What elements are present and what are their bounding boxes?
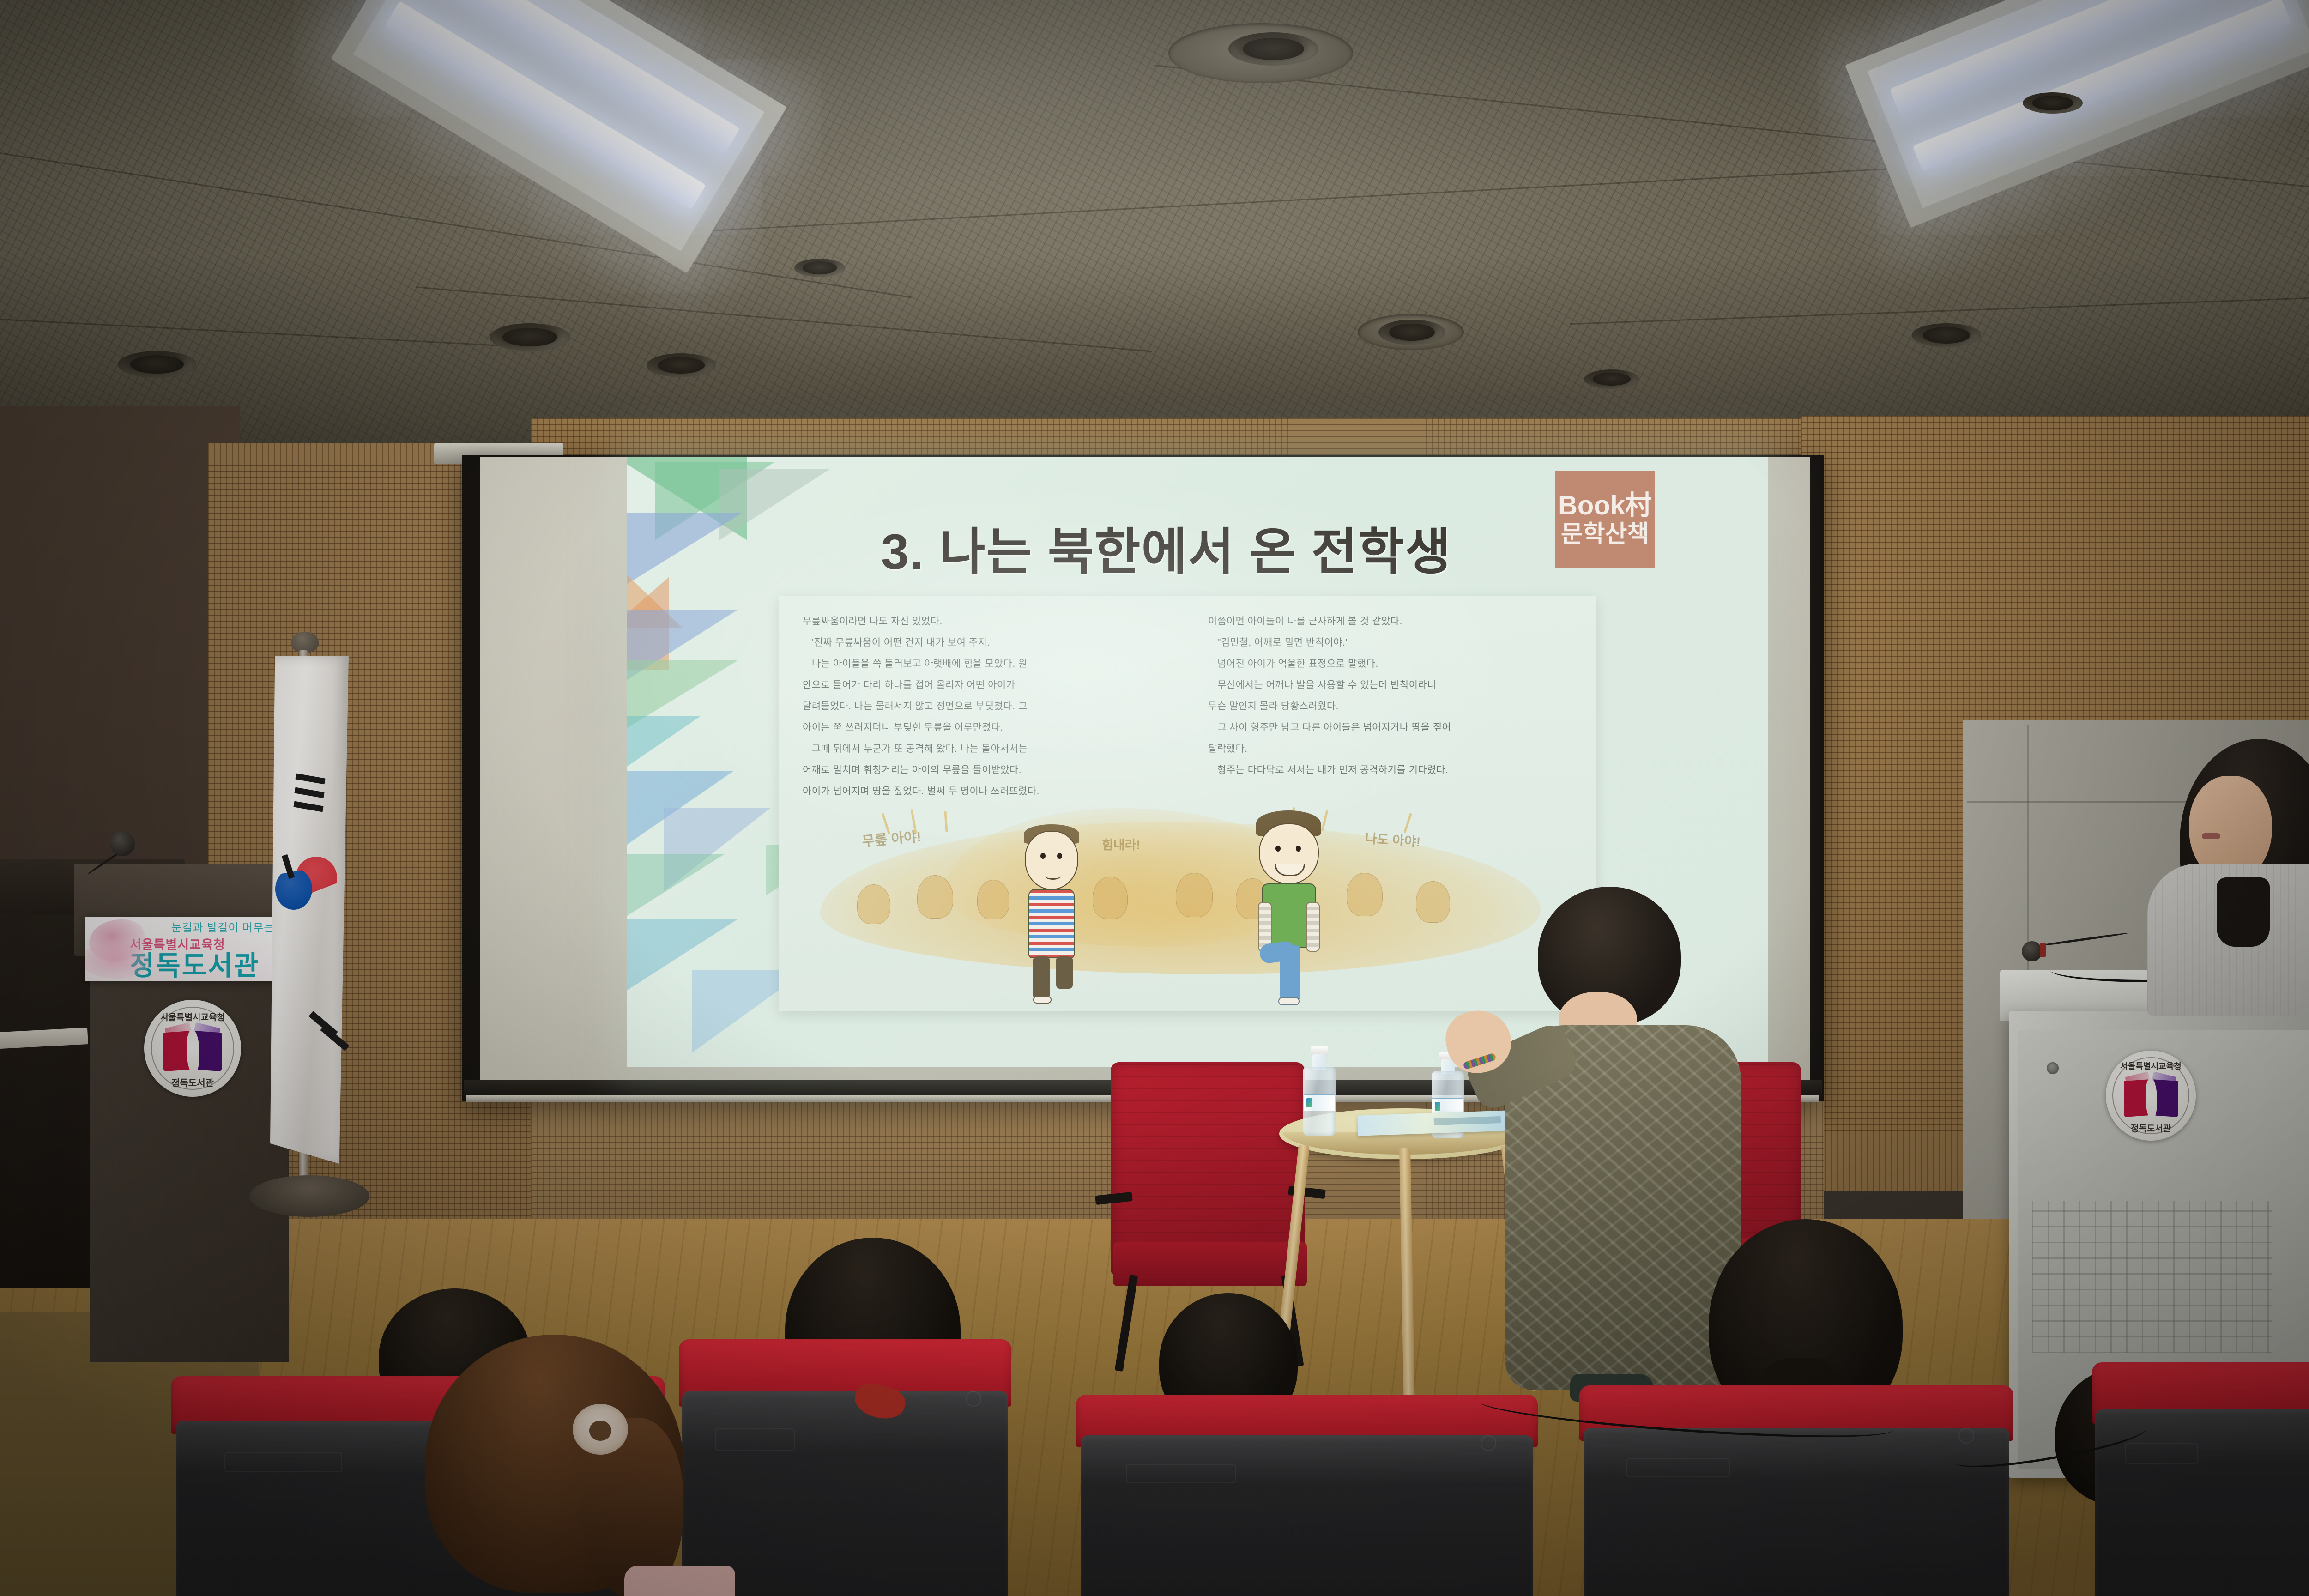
badge-line-1: Book村 — [1558, 490, 1652, 521]
ceiling-downlight — [647, 353, 716, 377]
ceiling-downlight — [118, 351, 196, 378]
book-line: 나는 아이들을 쓱 둘러보고 아랫배에 힘을 모았다. 원 — [803, 654, 1181, 674]
book-line: 무슨 말인지 몰라 당황스러웠다. — [1208, 696, 1578, 716]
book-line: "김민철, 어깨로 밀면 반칙이야." — [1208, 633, 1578, 653]
sign-library-name: 정독도서관 — [130, 953, 289, 979]
emblem-top-text: 서울특별시교육청 — [144, 1010, 241, 1023]
illustration-boy-right — [1250, 810, 1335, 1000]
korean-flag — [270, 656, 349, 1164]
book-line: 어깨로 밀치며 휘청거리는 아이의 무릎을 들이받았다. — [803, 760, 1181, 780]
emblem-bottom-text: 정독도서관 — [144, 1076, 241, 1089]
book-line: 그 사이 형주만 남고 다른 아이들은 넘어지거나 땅을 짚어 — [1208, 718, 1578, 738]
ceiling-downlight — [1912, 323, 1981, 347]
book-line: 이쯤이면 아이들이 나를 근사하게 볼 것 같았다. — [1208, 611, 1578, 631]
illustration-speech-text: 나도 아야! — [1365, 828, 1421, 851]
podium-left-sign: 눈길과 발길이 머무는 곳 서울특별시교육청 정독도서관 — [85, 917, 293, 981]
presenter-at-lectern — [2110, 725, 2309, 1011]
ceiling-downlight — [794, 259, 845, 277]
audience-seat[interactable] — [2092, 1362, 2309, 1596]
audience-seat[interactable] — [1076, 1395, 1538, 1596]
book-line: 달려들었다. 나는 물러서지 않고 정면으로 부딪쳤다. 그 — [803, 696, 1181, 716]
library-emblem: 서울특별시교육청 정독도서관 — [2106, 1051, 2196, 1141]
book-text-right-column: 이쯤이면 아이들이 나를 근사하게 볼 것 같았다. "김민철, 어깨로 밀면 … — [1208, 611, 1578, 781]
book-text-left-column: 무릎싸움이라면 나도 자신 있었다. '진짜 무릎싸움이 어떤 건지 내가 보여… — [803, 611, 1181, 803]
illustration-speech-text: 힘내라! — [1102, 835, 1141, 853]
ceiling-downlight — [1378, 320, 1445, 345]
book-line: 무릎싸움이라면 나도 자신 있었다. — [803, 611, 1181, 631]
audience-member-front — [406, 1335, 739, 1596]
ceiling-downlight — [1228, 32, 1318, 66]
book-line: 탈락했다. — [1208, 739, 1578, 759]
book-line: 안으로 들어가 다리 하나를 접어 올리자 어떤 아이가 — [803, 675, 1181, 695]
seated-speaker — [1455, 887, 1741, 1409]
emblem-bottom-text: 정독도서관 — [2106, 1122, 2196, 1134]
lectern-speaker-grille — [2032, 1201, 2272, 1353]
audience-member — [827, 1367, 937, 1478]
ceiling-downlight — [490, 323, 570, 351]
book-line: '진짜 무릎싸움이 어떤 건지 내가 보여 주지.' — [803, 633, 1181, 653]
book-line: 형주는 다다닥로 서서는 내가 먼저 공격하기를 기다렸다. — [1208, 760, 1578, 780]
lecture-hall-photo: 3. 나는 북한에서 온 전학생 Book村 문학산책 무릎싸움이라면 나도 자… — [0, 0, 2309, 1596]
microphone-head[interactable] — [110, 831, 135, 856]
sign-org: 서울특별시교육청 — [130, 935, 289, 953]
book-line: 무산에서는 어깨나 발을 사용할 수 있는데 반칙이라니 — [1208, 675, 1578, 695]
microphone-head[interactable] — [2022, 941, 2042, 961]
ceiling-downlight — [2023, 92, 2083, 114]
microphone-ring — [2040, 943, 2046, 957]
book-line: 그때 뒤에서 누군가 또 공격해 왔다. 나는 돌아서서는 — [803, 739, 1181, 759]
badge-line-2: 문학산책 — [1561, 521, 1649, 549]
library-emblem: 서울특별시교육청 정독도서관 — [144, 1000, 241, 1097]
illustration-speech-text: 무릎 아야! — [861, 825, 922, 850]
lectern-screw — [2047, 1062, 2059, 1074]
illustration-boy-left — [1016, 824, 1095, 1000]
flag-base — [249, 1175, 369, 1217]
book-line: 아이가 넘어지며 땅을 짚었다. 벌써 두 명이나 쓰러뜨렸다. — [803, 781, 1181, 801]
slide-title: 3. 나는 북한에서 온 전학생 — [881, 512, 1452, 584]
book-line: 아이는 쭉 쓰러지더니 부딪힌 무릎을 어루만졌다. — [803, 718, 1181, 738]
program-badge: Book村 문학산책 — [1555, 471, 1655, 568]
ceiling-downlight — [1584, 369, 1639, 389]
emblem-top-text: 서울특별시교육청 — [2106, 1060, 2196, 1072]
sign-tagline: 눈길과 발길이 머무는 곳 — [130, 919, 289, 935]
water-bottle — [1303, 1067, 1336, 1136]
stage-chair-left-seat[interactable] — [1113, 1242, 1307, 1286]
book-line: 넘어진 아이가 억울한 표정으로 말했다. — [1208, 654, 1578, 674]
